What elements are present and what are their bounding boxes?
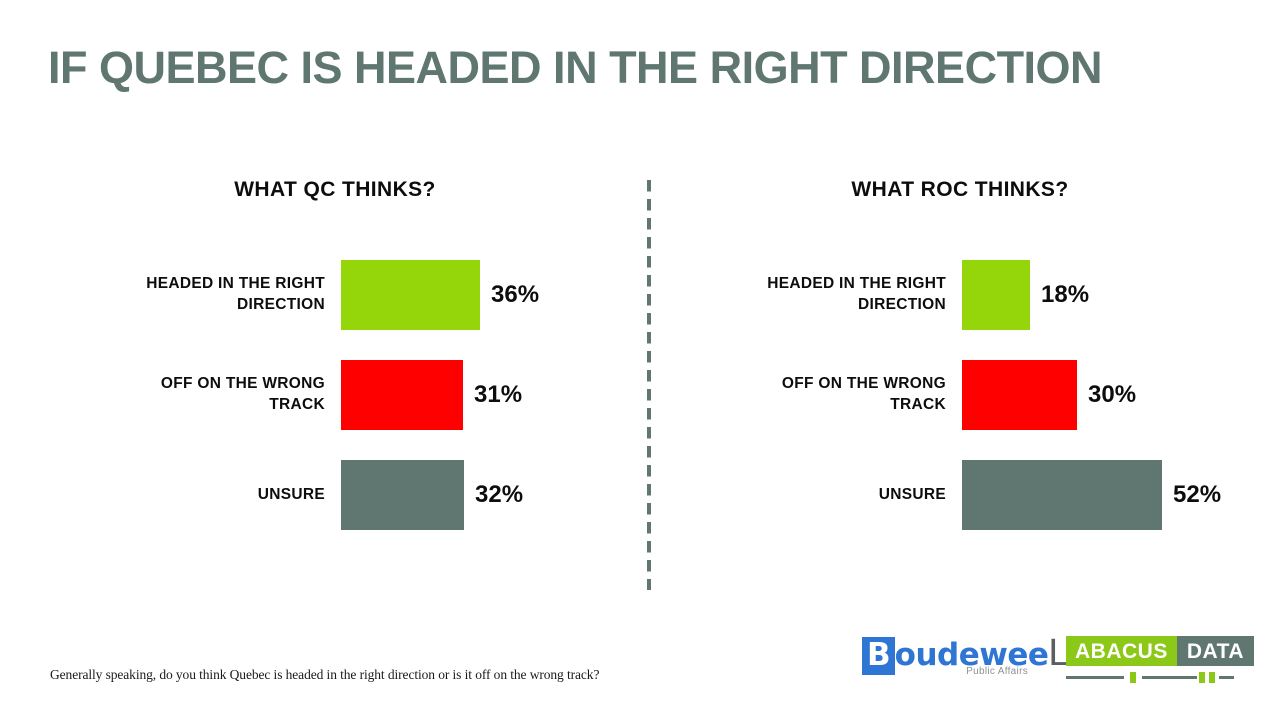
category-label-line2: DIRECTION xyxy=(237,296,325,313)
bar-group: 32% xyxy=(341,460,523,530)
rail-segment xyxy=(1066,676,1124,679)
bar-rows-qc: HEADED IN THE RIGHT DIRECTION 36% OFF ON… xyxy=(20,260,610,530)
footnote-question: Generally speaking, do you think Quebec … xyxy=(50,667,599,683)
bar-headed-right-roc xyxy=(962,260,1030,330)
bar-headed-right-qc xyxy=(341,260,480,330)
category-label: OFF ON THE WRONG TRACK xyxy=(650,374,962,416)
abacus-data-logo: ABACUS DATA xyxy=(1066,636,1234,685)
abacus-bead xyxy=(1130,672,1136,683)
panel-heading-qc: WHAT QC THINKS? xyxy=(20,178,610,202)
bar-group: 36% xyxy=(341,260,539,330)
bar-group: 52% xyxy=(962,460,1221,530)
abacus-bead xyxy=(1209,672,1215,683)
category-label: HEADED IN THE RIGHT DIRECTION xyxy=(20,274,341,316)
category-label-line1: OFF ON THE WRONG xyxy=(782,375,946,392)
abacus-word: ABACUS xyxy=(1066,636,1177,666)
bar-value-label: 36% xyxy=(491,281,539,309)
bar-unsure-qc xyxy=(341,460,464,530)
abacus-rail-icon xyxy=(1066,671,1234,685)
table-row: OFF ON THE WRONG TRACK 30% xyxy=(650,360,1240,430)
category-label-line1: OFF ON THE WRONG xyxy=(161,375,325,392)
category-label: OFF ON THE WRONG TRACK xyxy=(20,374,341,416)
page-title: IF QUEBEC IS HEADED IN THE RIGHT DIRECTI… xyxy=(48,42,1102,94)
bar-group: 30% xyxy=(962,360,1136,430)
category-label: UNSURE xyxy=(650,485,962,506)
chart-panel-roc: WHAT ROC THINKS? HEADED IN THE RIGHT DIR… xyxy=(650,178,1240,578)
category-label-line1: HEADED IN THE RIGHT xyxy=(146,275,325,292)
table-row: HEADED IN THE RIGHT DIRECTION 18% xyxy=(650,260,1240,330)
bar-value-label: 18% xyxy=(1041,281,1089,309)
category-label-line1: UNSURE xyxy=(258,486,325,503)
panel-heading-roc: WHAT ROC THINKS? xyxy=(650,178,1240,202)
table-row: HEADED IN THE RIGHT DIRECTION 36% xyxy=(20,260,610,330)
abacus-wordmark: ABACUS DATA xyxy=(1066,636,1234,666)
abacus-bead xyxy=(1199,672,1205,683)
bar-value-label: 30% xyxy=(1088,381,1136,409)
chart-panel-qc: WHAT QC THINKS? HEADED IN THE RIGHT DIRE… xyxy=(20,178,610,578)
boudeweel-initial: B xyxy=(862,637,895,675)
bar-wrong-track-roc xyxy=(962,360,1077,430)
category-label-line1: HEADED IN THE RIGHT xyxy=(767,275,946,292)
category-label: UNSURE xyxy=(20,485,341,506)
bar-unsure-roc xyxy=(962,460,1162,530)
table-row: OFF ON THE WRONG TRACK 31% xyxy=(20,360,610,430)
boudeweel-logo: B oudewee L Public Affairs xyxy=(862,637,1042,679)
bar-value-label: 52% xyxy=(1173,481,1221,509)
bar-value-label: 31% xyxy=(474,381,522,409)
bar-group: 18% xyxy=(962,260,1089,330)
category-label-line1: UNSURE xyxy=(879,486,946,503)
bar-rows-roc: HEADED IN THE RIGHT DIRECTION 18% OFF ON… xyxy=(650,260,1240,530)
bar-value-label: 32% xyxy=(475,481,523,509)
category-label: HEADED IN THE RIGHT DIRECTION xyxy=(650,274,962,316)
data-word: DATA xyxy=(1177,636,1254,666)
table-row: UNSURE 32% xyxy=(20,460,610,530)
category-label-line2: TRACK xyxy=(890,396,946,413)
rail-segment xyxy=(1142,676,1197,679)
rail-segment xyxy=(1219,676,1234,679)
category-label-line2: DIRECTION xyxy=(858,296,946,313)
boudeweel-tagline: Public Affairs xyxy=(966,666,1028,677)
bar-group: 31% xyxy=(341,360,522,430)
bar-wrong-track-qc xyxy=(341,360,463,430)
category-label-line2: TRACK xyxy=(269,396,325,413)
table-row: UNSURE 52% xyxy=(650,460,1240,530)
